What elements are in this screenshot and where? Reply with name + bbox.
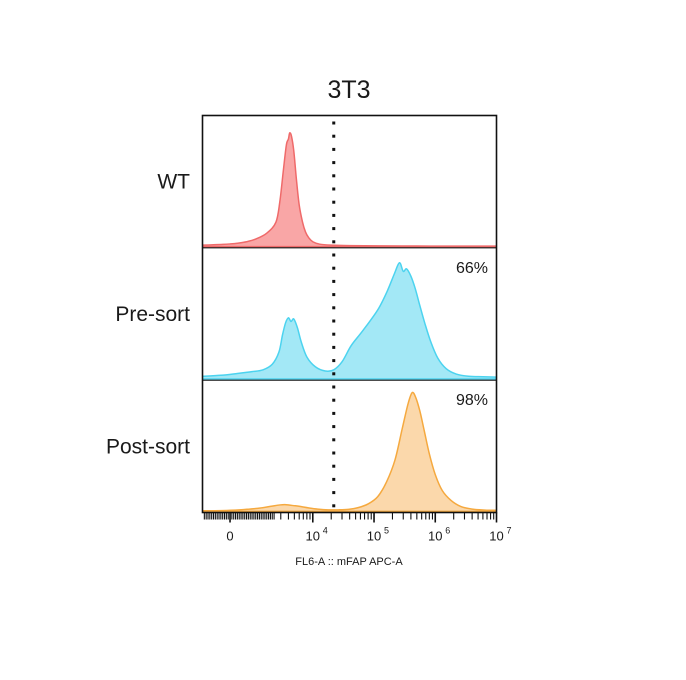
gate-dot: [332, 320, 335, 323]
x-axis-tick-label: 10: [489, 529, 503, 544]
x-axis-tick-label: 0: [226, 529, 233, 544]
gate-dot: [332, 148, 335, 151]
gate-dot: [332, 386, 335, 389]
x-axis-tick-exponent: 4: [323, 526, 328, 536]
gate-percentage-label: 66%: [456, 260, 488, 277]
gate-dot: [332, 254, 335, 257]
gate-dot: [332, 306, 335, 309]
gate-dot: [332, 491, 335, 494]
gate-dot: [332, 478, 335, 481]
gate-dot: [332, 227, 335, 230]
gate-dot: [332, 174, 335, 177]
gate-dot: [332, 280, 335, 283]
gate-dot: [332, 214, 335, 217]
gate-dot: [332, 425, 335, 428]
gate-dot: [332, 412, 335, 415]
plot-title: 3T3: [327, 76, 370, 104]
gate-dot: [332, 161, 335, 164]
gate-dot: [332, 240, 335, 243]
panel-row-label: Pre-sort: [115, 303, 190, 326]
gate-dot: [332, 188, 335, 191]
x-axis-tick-exponent: 7: [507, 526, 512, 536]
gate-dot: [332, 399, 335, 402]
gate-dot: [332, 135, 335, 138]
flow-cytometry-figure: 3T3 WTPre-sortPost-sort 66%98% 010410510…: [0, 0, 686, 680]
panel-row-label: WT: [157, 171, 190, 194]
gate-dot: [332, 372, 335, 375]
panel-row-label: Post-sort: [106, 435, 190, 458]
x-axis-tick-exponent: 6: [445, 526, 450, 536]
gate-dot: [332, 293, 335, 296]
gate-percentage-label: 98%: [456, 392, 488, 409]
gate-dot: [332, 122, 335, 125]
gate-dot: [332, 346, 335, 349]
gate-dot: [332, 201, 335, 204]
gate-dot: [332, 438, 335, 441]
x-axis-tick-exponent: 5: [384, 526, 389, 536]
gate-dot: [332, 465, 335, 468]
gate-dot: [332, 267, 335, 270]
x-axis-tick-label: 10: [367, 529, 381, 544]
x-axis-tick-label: 10: [306, 529, 320, 544]
x-axis-title: FL6-A :: mFAP APC-A: [295, 556, 403, 568]
gate-dot: [332, 333, 335, 336]
gate-dot: [332, 359, 335, 362]
x-axis-tick-label: 10: [428, 529, 442, 544]
gate-dot: [332, 452, 335, 455]
gate-dot: [332, 504, 335, 507]
